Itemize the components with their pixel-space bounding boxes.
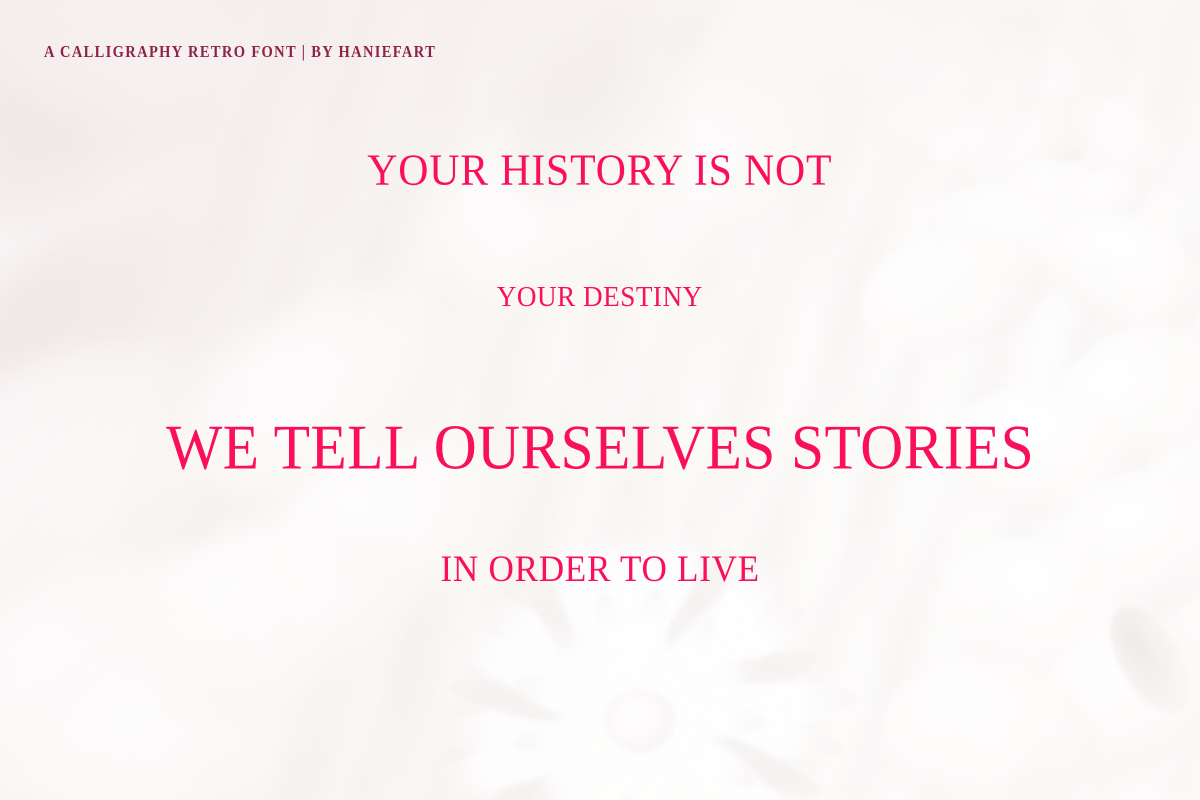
quote-line-1: YOUR HISTORY IS NOT — [367, 148, 832, 192]
quote-block: YOUR HISTORY IS NOT YOUR DESTINY WE TELL… — [0, 148, 1200, 626]
quote-line-3: WE TELL OURSELVES STORIES — [166, 416, 1034, 479]
font-specimen-canvas: A CALLIGRAPHY RETRO FONT | BY HANIEFART … — [0, 0, 1200, 800]
quote-line-4: IN ORDER TO LIVE — [440, 550, 759, 587]
quote-line-2: YOUR DESTINY — [497, 282, 703, 311]
credit-line: A CALLIGRAPHY RETRO FONT | BY HANIEFART — [44, 43, 436, 63]
